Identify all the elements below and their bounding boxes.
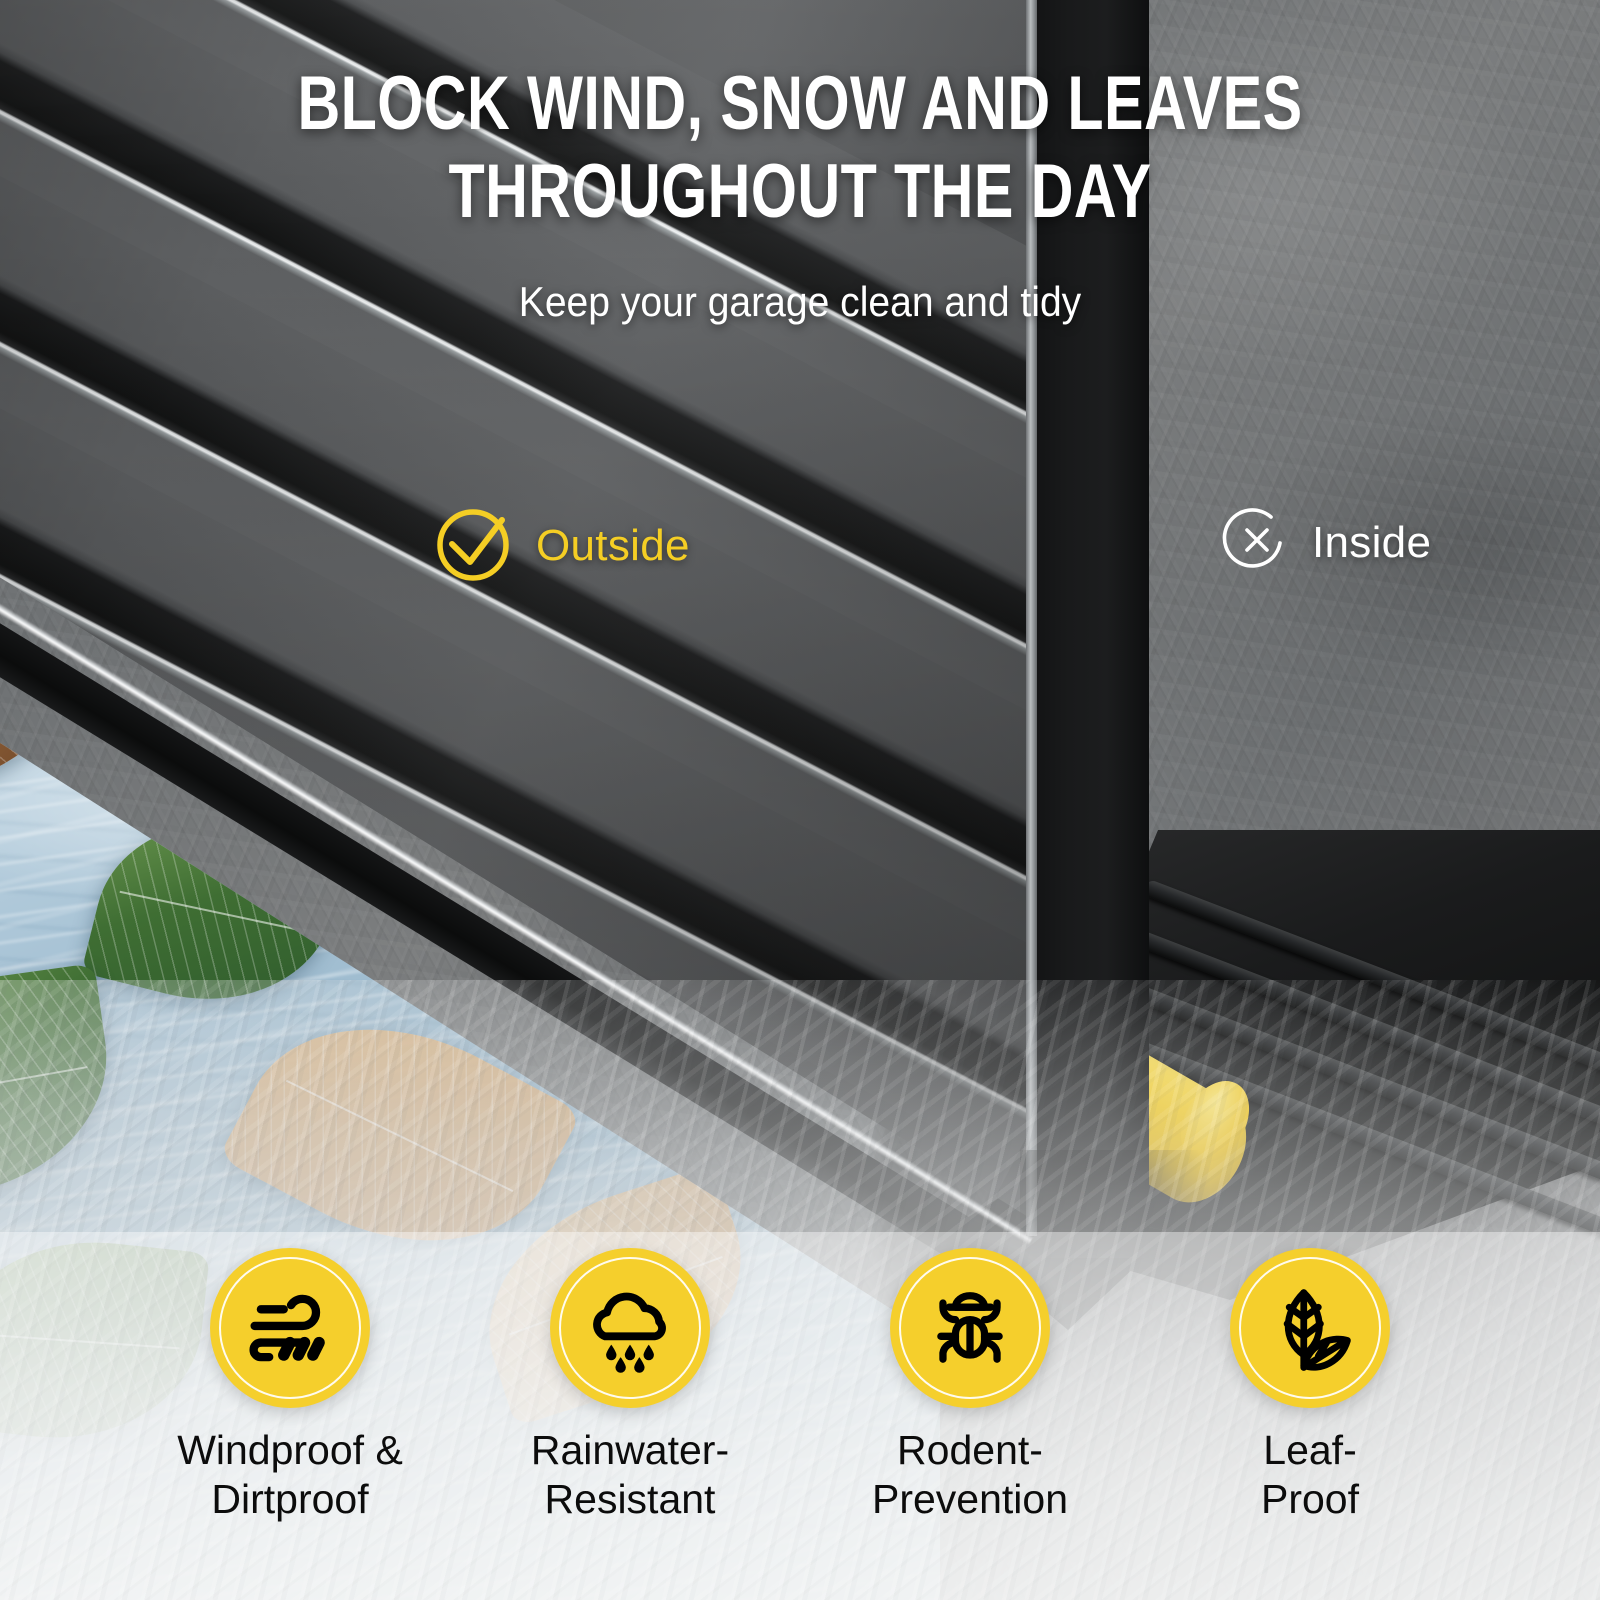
feature-item-rodent: Rodent- Prevention <box>800 1232 1140 1524</box>
feature-item-rainwater: Rainwater- Resistant <box>460 1232 800 1524</box>
inside-tag: Inside <box>1222 505 1431 580</box>
feature-item-windproof: Windproof & Dirtproof <box>120 1232 460 1524</box>
feature-badge <box>550 1248 710 1408</box>
page-subtitle: Keep your garage clean and tidy <box>56 276 1544 328</box>
feature-badge <box>210 1248 370 1408</box>
feature-item-leaf: Leaf- Proof <box>1140 1232 1480 1524</box>
outside-tag-label: Outside <box>536 522 690 570</box>
feature-list: Windproof & Dirtproof Rainwater- Resista… <box>0 1232 1600 1600</box>
headline-line-2: THROUGHOUT THE DAY <box>176 148 1424 236</box>
outside-tag: Outside <box>430 500 690 591</box>
feature-label: Leaf- Proof <box>1261 1426 1359 1524</box>
rain-cloud-icon <box>578 1276 682 1380</box>
feature-badge <box>890 1248 1050 1408</box>
leaf-icon <box>1258 1276 1362 1380</box>
product-marketing-image: BLOCK WIND, SNOW AND LEAVES THROUGHOUT T… <box>0 0 1600 1600</box>
page-title: BLOCK WIND, SNOW AND LEAVES THROUGHOUT T… <box>176 60 1424 236</box>
wind-icon <box>238 1276 342 1380</box>
feature-label: Rodent- Prevention <box>872 1426 1068 1524</box>
inside-tag-label: Inside <box>1312 519 1431 567</box>
feature-label: Windproof & Dirtproof <box>177 1426 403 1524</box>
feature-label: Rainwater- Resistant <box>531 1426 729 1524</box>
headline-line-1: BLOCK WIND, SNOW AND LEAVES <box>176 60 1424 148</box>
bug-icon <box>918 1276 1022 1380</box>
check-circle-icon <box>430 500 516 591</box>
feature-badge <box>1230 1248 1390 1408</box>
x-circle-icon <box>1222 505 1292 580</box>
